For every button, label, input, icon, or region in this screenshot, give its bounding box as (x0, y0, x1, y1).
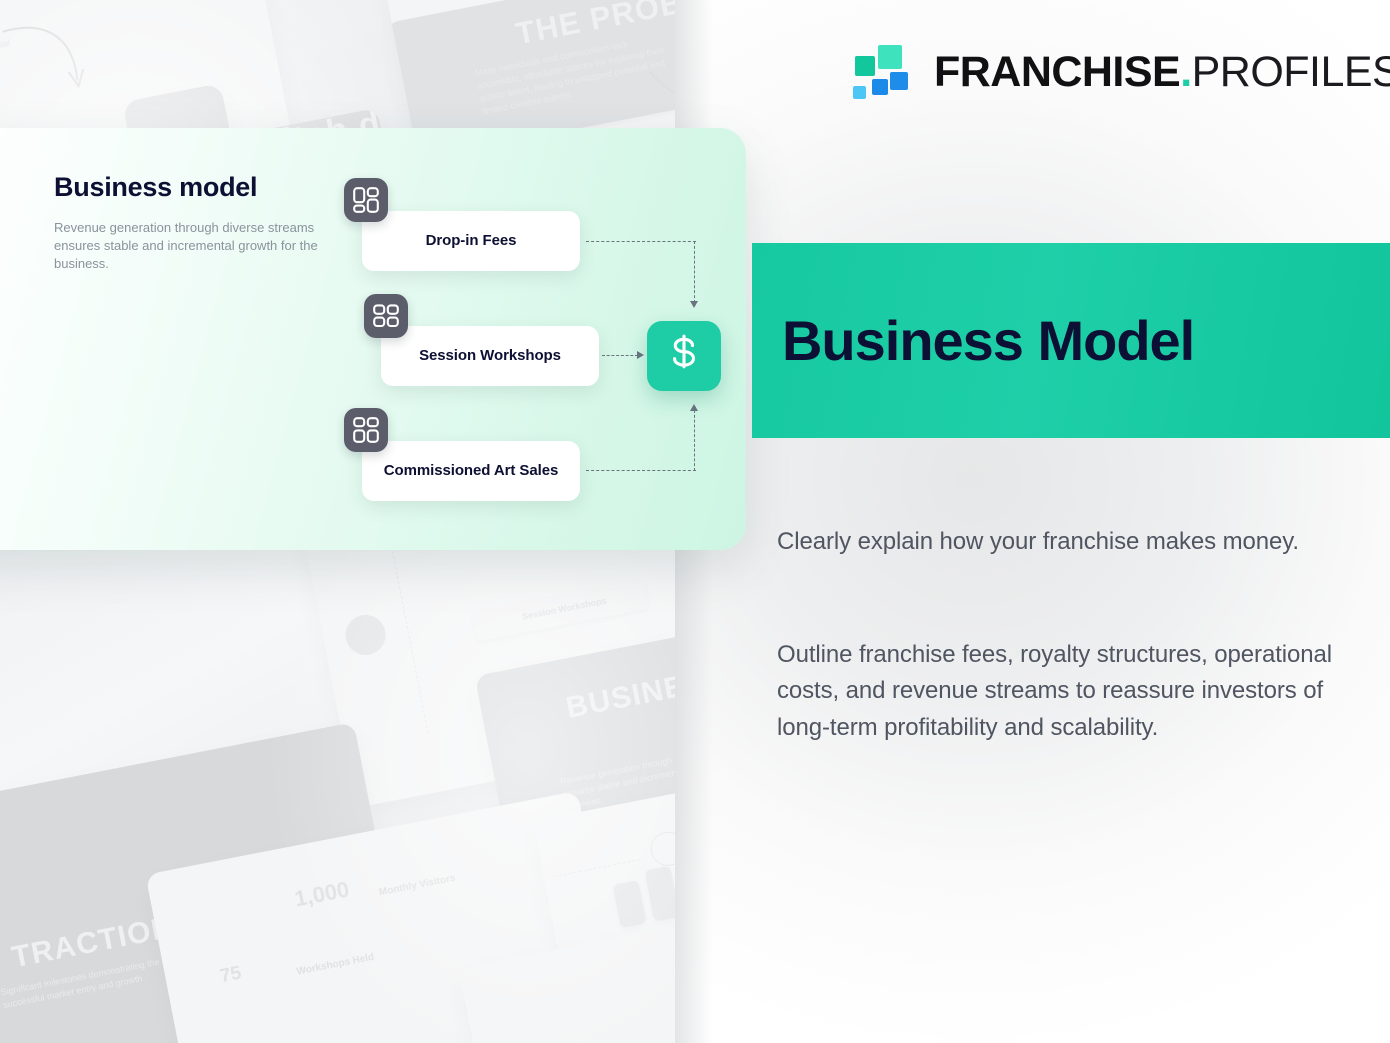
grid-dashboard-icon (344, 178, 388, 222)
bg-metric-value-2: 75 (218, 962, 243, 988)
bg-pricing-bar-1 (613, 880, 647, 928)
revenue-stream-box-drop-in-fees[interactable]: Drop-in Fees (362, 211, 580, 271)
bg-metric-value-1: 1,000 (292, 876, 351, 912)
bg-pricing-bar-2 (644, 866, 675, 922)
preview-heading: Business model (54, 172, 257, 203)
connector-top-vertical (694, 241, 695, 303)
connector-mid-horizontal (602, 355, 638, 356)
revenue-stream-label: Commissioned Art Sales (384, 462, 559, 480)
bg-curved-arrow-icon (0, 6, 100, 112)
revenue-stream-box-commissioned-art-sales[interactable]: Commissioned Art Sales (362, 441, 580, 501)
bg-funding-title: FUNDING (607, 1026, 675, 1043)
bg-pricing-dash (554, 859, 641, 877)
section-title: Business Model (782, 313, 1194, 369)
section-title-banner: Business Model (752, 243, 1390, 438)
revenue-hub-node (647, 321, 721, 391)
grid-dashboard-icon (364, 294, 408, 338)
revenue-stream-label: Session Workshops (419, 347, 561, 365)
bg-pricing-dollar-icon (648, 829, 675, 869)
connector-top-horizontal (586, 241, 696, 242)
revenue-stream-label: Drop-in Fees (426, 232, 517, 250)
connector-mid-arrowhead-icon (637, 351, 644, 359)
right-panel-background (675, 0, 1390, 1043)
description-paragraph-2: Outline franchise fees, royalty structur… (777, 637, 1347, 746)
brand-name-bold: FRANCHISE (934, 48, 1180, 96)
connector-top-arrowhead-icon (690, 301, 698, 308)
brand-dot: . (1180, 48, 1191, 96)
description-paragraph-1: Clearly explain how your franchise makes… (777, 524, 1347, 560)
brand-name-thin: PROFILES (1192, 48, 1390, 96)
franchise-profiles-mark-icon (850, 44, 908, 100)
grid-dashboard-icon (344, 408, 388, 452)
dollar-sign-icon (667, 334, 701, 378)
slide-canvas: MARKET spaces in urban and is a substant… (0, 0, 1390, 1043)
connector-bottom-arrowhead-icon (690, 404, 698, 411)
connector-bottom-vertical (694, 410, 695, 471)
preview-subheading: Revenue generation through diverse strea… (54, 219, 344, 273)
brand-logo[interactable]: FRANCHISE.PROFILES (850, 44, 1390, 100)
bg-bm-dash-v (389, 536, 428, 733)
connector-bottom-horizontal (586, 470, 696, 471)
brand-wordmark: FRANCHISE.PROFILES (934, 51, 1390, 94)
bg-metric-label-2: Workshops Held (296, 951, 376, 979)
bg-metric-label-1: Monthly Visitors (378, 872, 457, 900)
bg-bm-dollar-icon (342, 612, 389, 659)
revenue-stream-box-session-workshops[interactable]: Session Workshops (381, 326, 599, 386)
